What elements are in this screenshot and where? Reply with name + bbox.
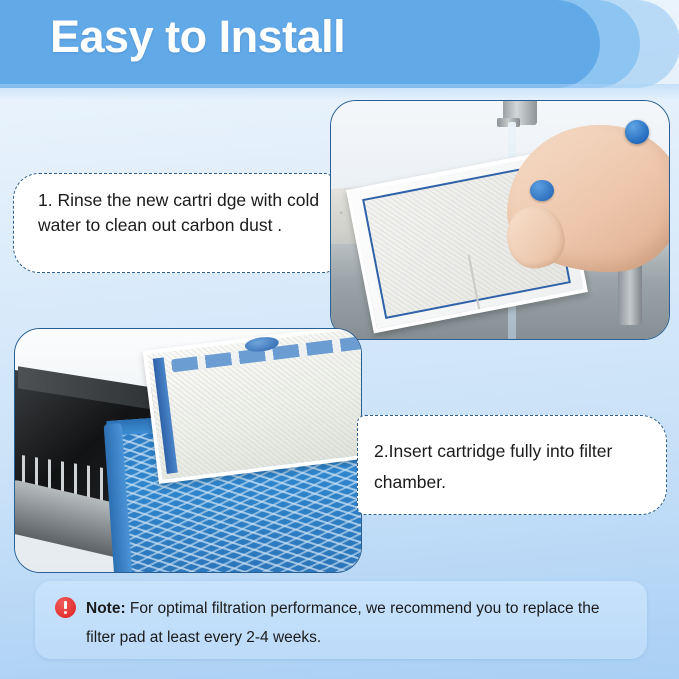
note-text: Note: For optimal filtration performance… <box>86 595 629 652</box>
infographic-page: Easy to Install 1. Rinse the new cartri … <box>0 0 679 679</box>
banner-fade-divider <box>0 84 679 100</box>
note-bar: Note: For optimal filtration performance… <box>35 581 647 659</box>
note-body: For optimal filtration performance, we r… <box>86 600 599 646</box>
exclamation-circle-icon <box>55 597 76 618</box>
step-1-text: 1. Rinse the new cartri dge with cold wa… <box>38 188 322 238</box>
note-row: Note: For optimal filtration performance… <box>55 595 629 652</box>
step-2-text: 2.Insert cartridge fully into filter cha… <box>374 436 644 497</box>
photo2-filter-pad <box>143 328 362 485</box>
photo1-blue-dot-marker <box>625 120 649 144</box>
photo-rinse-cartridge <box>330 100 670 340</box>
note-label: Note: <box>86 600 126 617</box>
step-1-callout: 1. Rinse the new cartri dge with cold wa… <box>13 173 333 273</box>
photo-insert-cartridge <box>14 328 362 573</box>
photo1-cartridge-knob <box>530 180 554 201</box>
header-banner: Easy to Install <box>0 0 679 88</box>
step-2-callout: 2.Insert cartridge fully into filter cha… <box>357 415 667 515</box>
page-title: Easy to Install <box>50 11 345 63</box>
